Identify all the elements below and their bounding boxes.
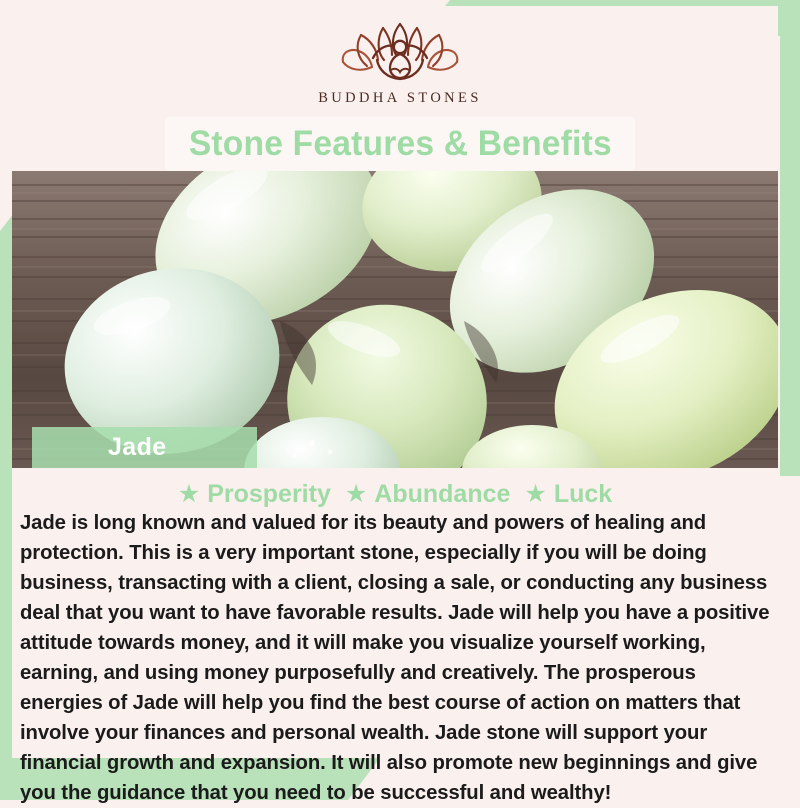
- brand-name: BUDDHA STONES: [318, 90, 482, 107]
- star-icon: ★: [178, 482, 200, 507]
- title-ribbon: Stone Features & Benefits: [165, 117, 635, 171]
- stone-photo: Jade: [12, 171, 778, 468]
- brand-logo: BUDDHA STONES: [0, 6, 800, 118]
- benefit-label: Prosperity: [207, 480, 331, 509]
- stone-name-label: Jade: [32, 433, 167, 462]
- benefit-item-prosperity: ★ Prosperity: [178, 480, 331, 509]
- benefit-label: Abundance: [374, 480, 510, 509]
- benefit-item-abundance: ★ Abundance: [345, 480, 511, 509]
- page-title: Stone Features & Benefits: [188, 124, 611, 164]
- lotus-meditation-figure-icon: [331, 22, 469, 84]
- benefit-label: Luck: [554, 480, 612, 509]
- description-block: Jade is long known and valued for its be…: [20, 508, 780, 808]
- description-text: Jade is long known and valued for its be…: [20, 508, 780, 808]
- benefit-item-luck: ★ Luck: [524, 480, 612, 509]
- stone-name-badge: Jade: [32, 427, 257, 468]
- stone-photo-illustration: [12, 171, 778, 468]
- star-icon: ★: [345, 482, 367, 507]
- infographic-card: BUDDHA STONES Stone Features & Benefits: [0, 0, 800, 800]
- star-icon: ★: [524, 482, 546, 507]
- benefits-row: ★ Prosperity ★ Abundance ★ Luck: [12, 478, 778, 510]
